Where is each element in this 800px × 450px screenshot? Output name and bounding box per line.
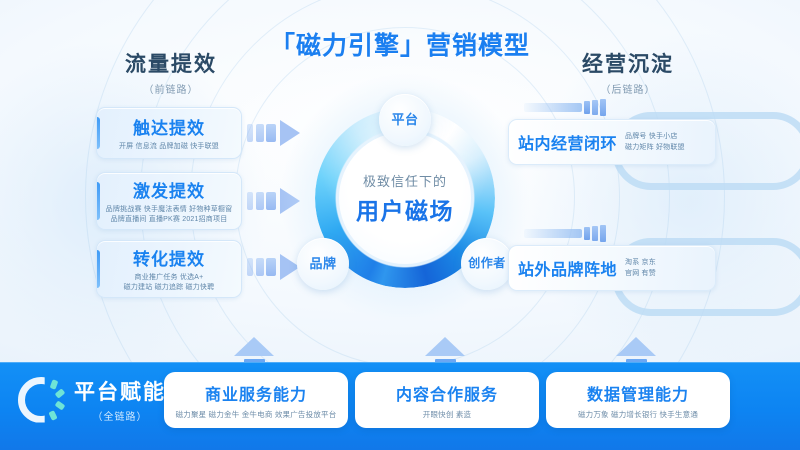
arrow-bar [600, 99, 606, 116]
arrow-bar [256, 192, 264, 210]
column-header-left: 流量提效 （前链路） [96, 48, 246, 96]
column-header-left-title: 流量提效 [96, 48, 246, 78]
right-card-subtitle-1: 品牌号 快手小店 [625, 131, 685, 142]
left-card-title: 转化提效 [133, 245, 205, 270]
arrow-feed-icon [524, 101, 606, 114]
column-header-left-subtitle: （前链路） [96, 81, 246, 96]
bottom-card-content-service[interactable]: 内容合作服务 开眼快创 素造 [355, 372, 539, 428]
arrow-bar [600, 225, 606, 242]
bottom-card-data-management[interactable]: 数据管理能力 磁力万象 磁力增长银行 快手生意通 [546, 372, 730, 428]
column-header-right-title: 经营沉淀 [548, 48, 708, 78]
center-title: 用户磁场 [356, 192, 454, 226]
bottom-card-commercial-service[interactable]: 商业服务能力 磁力聚星 磁力金牛 金牛电商 效果广告投放平台 [164, 372, 348, 428]
platform-empower-label: 平台赋能 （全链路） [18, 376, 166, 423]
ring-node-platform[interactable]: 平台 [379, 94, 431, 146]
right-card-subtitle-2: 官网 有赞 [625, 268, 656, 279]
bottom-card-subtitle: 磁力聚星 磁力金牛 金牛电商 效果广告投放平台 [176, 409, 337, 420]
center-subtitle: 极致信任下的 [363, 171, 447, 190]
left-card-subtitle-1: 开屏 信息流 品牌加磁 快手联盟 [119, 142, 219, 153]
right-card-off-platform[interactable]: 站外品牌阵地 淘系 京东 官网 有赞 [508, 245, 716, 291]
arrow-head [425, 337, 465, 356]
ring-node-creator[interactable]: 创作者 [461, 238, 513, 290]
arrow-bar [247, 258, 253, 276]
left-card-reach[interactable]: 触达提效 开屏 信息流 品牌加磁 快手联盟 [96, 107, 242, 159]
arrow-head [234, 337, 274, 356]
ring-core: 极致信任下的 用户磁场 [339, 132, 471, 264]
loading-circle-icon [18, 377, 64, 423]
arrow-bar [266, 124, 276, 142]
right-card-title: 站内经营闭环 [518, 130, 617, 154]
arrow-trail [524, 229, 582, 238]
arrow-head [616, 337, 656, 356]
left-card-convert[interactable]: 转化提效 商业推广任务 优选A+ 磁力建站 磁力追踪 磁力快聘 [96, 240, 242, 298]
platform-empower-subtitle: （全链路） [74, 408, 166, 423]
left-card-subtitle-1: 品牌挑战赛 快手魔法表情 好物种草橱窗 [106, 205, 233, 216]
loading-dashes [41, 380, 63, 420]
right-card-subtitle-group: 品牌号 快手小店 磁力矩阵 好物联盟 [617, 131, 685, 153]
platform-empower-text: 平台赋能 （全链路） [74, 376, 166, 423]
platform-empower-title: 平台赋能 [74, 376, 166, 406]
right-card-subtitle-1: 淘系 京东 [625, 257, 656, 268]
left-card-subtitle-1: 商业推广任务 优选A+ [135, 273, 204, 284]
arrow-bar [266, 258, 276, 276]
arrow-bar [592, 226, 598, 241]
column-header-right: 经营沉淀 （后链路） [548, 48, 708, 96]
column-header-right-subtitle: （后链路） [548, 81, 708, 96]
arrow-bar [584, 101, 590, 114]
arrow-bar [592, 100, 598, 115]
arrow-bar [256, 258, 264, 276]
ring-node-brand[interactable]: 品牌 [297, 238, 349, 290]
bottom-card-subtitle: 开眼快创 素造 [423, 409, 471, 420]
bottom-card-subtitle: 磁力万象 磁力增长银行 快手生意通 [578, 409, 698, 420]
left-card-title: 触达提效 [133, 114, 205, 139]
left-card-subtitle-2: 品牌直播间 直播PK赛 2021招商项目 [111, 215, 228, 226]
right-card-subtitle-2: 磁力矩阵 好物联盟 [625, 142, 685, 153]
arrow-bar [256, 124, 264, 142]
right-card-subtitle-group: 淘系 京东 官网 有赞 [617, 257, 656, 279]
center-ring: 极致信任下的 用户磁场 平台 品牌 创作者 [305, 98, 505, 298]
arrow-bar [584, 227, 590, 240]
arrow-feed-icon [524, 227, 606, 240]
arrow-bar [247, 124, 253, 142]
bottom-card-title: 数据管理能力 [587, 381, 689, 405]
right-card-title: 站外品牌阵地 [518, 256, 617, 280]
bottom-card-title: 商业服务能力 [205, 381, 307, 405]
left-card-title: 激发提效 [133, 177, 205, 202]
arrow-trail [524, 103, 582, 112]
infographic-stage: 「磁力引擎」营销模型 流量提效 （前链路） 经营沉淀 （后链路） 触达提效 开屏… [0, 0, 800, 450]
arrow-bar [247, 192, 253, 210]
right-card-in-platform[interactable]: 站内经营闭环 品牌号 快手小店 磁力矩阵 好物联盟 [508, 119, 716, 165]
bottom-card-title: 内容合作服务 [396, 381, 498, 405]
left-card-subtitle-2: 磁力建站 磁力追踪 磁力快聘 [124, 283, 215, 294]
arrow-bar [266, 192, 276, 210]
left-card-engage[interactable]: 激发提效 品牌挑战赛 快手魔法表情 好物种草橱窗 品牌直播间 直播PK赛 202… [96, 172, 242, 230]
